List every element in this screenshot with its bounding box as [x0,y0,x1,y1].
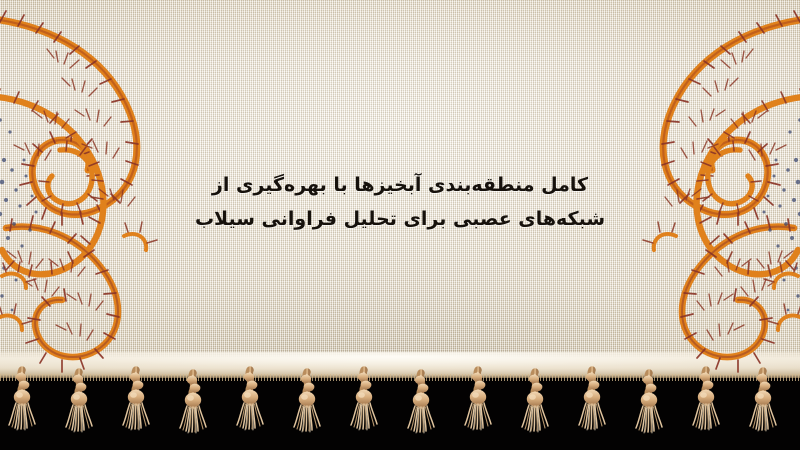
knotted-tassel-fringe [0,360,800,450]
slide-canvas: کامل منطقه‌بندی آبخیزها با بهره‌گیری از … [0,0,800,450]
title-line-2: شبکه‌های عصبی برای تحلیل فراوانی سیلاب [0,202,800,236]
slide-title: کامل منطقه‌بندی آبخیزها با بهره‌گیری از … [0,168,800,236]
title-line-1: کامل منطقه‌بندی آبخیزها با بهره‌گیری از [0,168,800,202]
